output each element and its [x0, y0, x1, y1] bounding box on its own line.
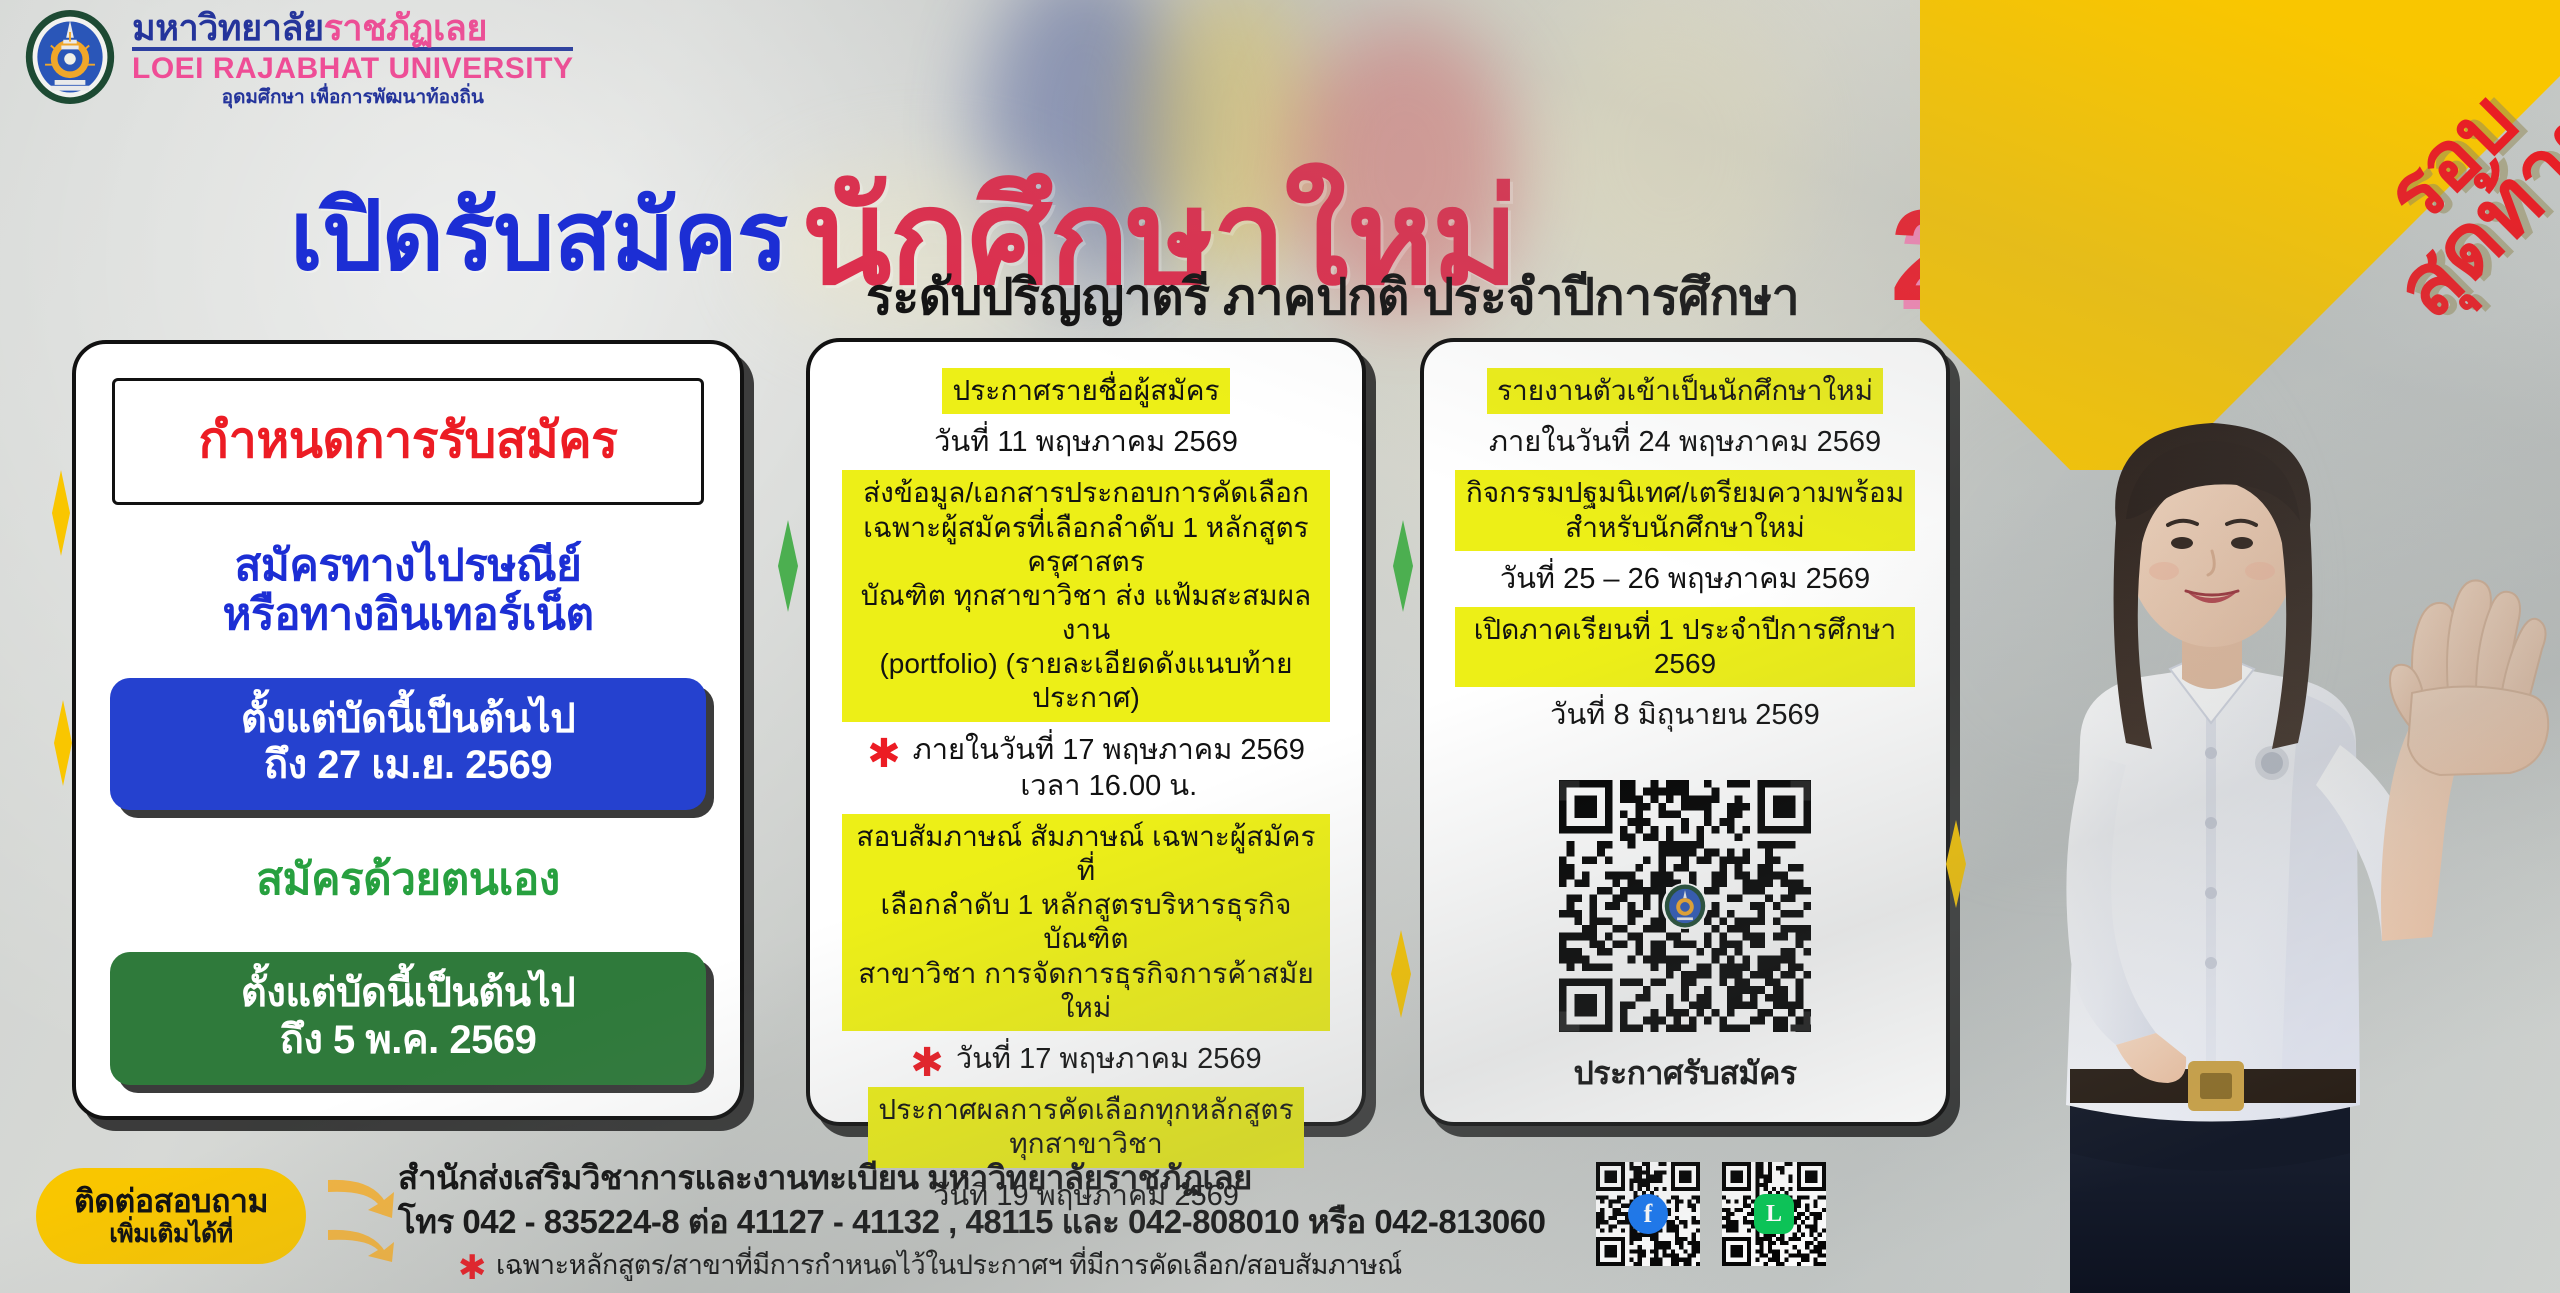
- schedule-row-line: (portfolio) (รายละเอียดดังแนบท้ายประกาศ): [852, 647, 1321, 715]
- university-crest-icon: [22, 9, 118, 105]
- corner-ribbon-line2: สุดท้าย: [2384, 91, 2560, 332]
- card-enrollment-schedule: รายงานตัวเข้าเป็นนักศึกษาใหม่ภายในวันที่…: [1420, 338, 1950, 1126]
- pill-blue-line2: ถึง 27 เม.ย. 2569: [110, 742, 706, 788]
- student-photo: [1920, 393, 2560, 1293]
- left-card-title-box: กำหนดการรับสมัคร: [112, 378, 704, 505]
- schedule-date-row: วันที่ 8 มิถุนายน 2569: [1440, 687, 1930, 743]
- university-motto: อุดมศึกษา เพื่อการพัฒนาท้องถิ่น: [132, 88, 573, 107]
- contact-badge-line2: เพิ่มเติมได้ที่: [109, 1221, 233, 1247]
- schedule-date-row: วันที่ 11 พฤษภาคม 2569: [826, 414, 1346, 470]
- footer-note-row: ✱ เฉพาะหลักสูตร/สาขาที่มีการกำหนดไว้ในปร…: [398, 1249, 1546, 1282]
- academic-year-number: 2569: [1890, 180, 2171, 330]
- schedule-row-line: ภายในวันที่ 17 พฤษภาคม 2569: [913, 732, 1305, 768]
- university-name-th: มหาวิทยาลัยราชภัฏเลย: [132, 10, 573, 51]
- footer-contact-info: สำนักส่งเสริมวิชาการและงานทะเบียน มหาวิท…: [398, 1158, 1546, 1281]
- admission-poster: มหาวิทยาลัยราชภัฏเลย LOEI RAJABHAT UNIVE…: [0, 0, 2560, 1293]
- headline-subtitle: ระดับปริญญาตรี ภาคปกติ ประจำปีการศึกษา: [866, 258, 1799, 337]
- left-card-self-apply-label: สมัครด้วยตนเอง: [76, 844, 740, 914]
- footer-phone: โทร 042 - 835224-8 ต่อ 41127 - 41132 , 4…: [398, 1202, 1546, 1242]
- asterisk-icon: ✱: [910, 1045, 944, 1081]
- schedule-highlight-row: สอบสัมภาษณ์ สัมภาษณ์ เฉพาะผู้สมัครที่เลื…: [842, 814, 1331, 1031]
- schedule-row-line: วันที่ 17 พฤษภาคม 2569: [956, 1041, 1262, 1077]
- schedule-row-line: สอบสัมภาษณ์ สัมภาษณ์ เฉพาะผู้สมัครที่: [852, 820, 1321, 888]
- schedule-row-line: วันที่ 8 มิถุนายน 2569: [1448, 697, 1922, 733]
- left-card-subtitle-line2: หรือทางอินเทอร์เน็ต: [76, 590, 740, 639]
- schedule-row-line: ประกาศผลการคัดเลือกทุกหลักสูตร: [878, 1093, 1293, 1127]
- left-card-subtitle: สมัครทางไปรษณีย์ หรือทางอินเทอร์เน็ต: [76, 541, 740, 640]
- schedule-deadline-text: วันที่ 17 พฤษภาคม 2569: [956, 1041, 1262, 1077]
- social-qr-codes: f L: [1596, 1162, 1826, 1266]
- schedule-row-line: ส่งข้อมูล/เอกสารประกอบการคัดเลือก: [852, 476, 1321, 510]
- schedule-row-line: เลือกลำดับ 1 หลักสูตรบริหารธุรกิจบัณฑิต: [852, 888, 1321, 956]
- contact-badge: ติดต่อสอบถาม เพิ่มเติมได้ที่: [36, 1168, 306, 1264]
- corner-ribbon-line1: รอบ: [2333, 40, 2560, 278]
- left-card-subtitle-line1: สมัครทางไปรษณีย์: [76, 541, 740, 590]
- schedule-row-line: เฉพาะผู้สมัครที่เลือกลำดับ 1 หลักสูตรครุ…: [852, 511, 1321, 579]
- schedule-row-line: บัณฑิต ทุกสาขาวิชา ส่ง แฟ้มสะสมผลงาน: [852, 579, 1321, 647]
- schedule-row-line: กิจกรรมปฐมนิเทศ/เตรียมความพร้อม: [1465, 476, 1906, 510]
- university-name-th-part2: ราชภัฏเลย: [324, 7, 487, 48]
- facebook-qr[interactable]: f: [1596, 1162, 1700, 1266]
- pill-walkin-period: ตั้งแต่บัดนี้เป็นต้นไป ถึง 5 พ.ค. 2569: [110, 952, 706, 1085]
- facebook-icon: f: [1628, 1194, 1668, 1234]
- corner-ribbon-text: รอบ สุดท้าย: [2333, 40, 2560, 332]
- schedule-row-line: ภายในวันที่ 24 พฤษภาคม 2569: [1448, 424, 1922, 460]
- line-icon: L: [1754, 1194, 1794, 1234]
- pill-green-line1: ตั้งแต่บัดนี้เป็นต้นไป: [110, 970, 706, 1016]
- schedule-row-line: สาขาวิชา การจัดการธุรกิจการค้าสมัยใหม่: [852, 957, 1321, 1025]
- announcement-qr-code[interactable]: [1559, 780, 1811, 1032]
- schedule-row-line: สำหรับนักศึกษาใหม่: [1465, 511, 1906, 545]
- schedule-date-row: วันที่ 25 – 26 พฤษภาคม 2569: [1440, 551, 1930, 607]
- qr-center-crest-icon: [1662, 883, 1708, 929]
- left-card-title: กำหนดการรับสมัคร: [115, 401, 701, 480]
- pill-online-postal-period: ตั้งแต่บัดนี้เป็นต้นไป ถึง 27 เม.ย. 2569: [110, 678, 706, 811]
- right-card-rows: รายงานตัวเข้าเป็นนักศึกษาใหม่ภายในวันที่…: [1424, 342, 1946, 754]
- pill-green-line2: ถึง 5 พ.ค. 2569: [110, 1017, 706, 1063]
- schedule-date-row: ภายในวันที่ 24 พฤษภาคม 2569: [1440, 414, 1930, 470]
- schedule-row-line: ประกาศรายชื่อผู้สมัคร: [952, 374, 1219, 408]
- mid-card-rows: ประกาศรายชื่อผู้สมัครวันที่ 11 พฤษภาคม 2…: [810, 342, 1362, 1234]
- schedule-row-line: เวลา 16.00 น.: [913, 768, 1305, 804]
- schedule-row-line: วันที่ 25 – 26 พฤษภาคม 2569: [1448, 561, 1922, 597]
- schedule-highlight-row: กิจกรรมปฐมนิเทศ/เตรียมความพร้อมสำหรับนัก…: [1455, 470, 1916, 550]
- headline-blue-text: เปิดรับสมัคร: [290, 183, 787, 290]
- schedule-row-line: ทุกสาขาวิชา: [878, 1127, 1293, 1161]
- university-branding: มหาวิทยาลัยราชภัฏเลย LOEI RAJABHAT UNIVE…: [22, 6, 573, 107]
- card-application-schedule: กำหนดการรับสมัคร สมัครทางไปรษณีย์ หรือทา…: [72, 340, 744, 1120]
- schedule-deadline-row: ✱วันที่ 17 พฤษภาคม 2569: [826, 1031, 1346, 1087]
- schedule-highlight-row: รายงานตัวเข้าเป็นนักศึกษาใหม่: [1487, 368, 1883, 414]
- contact-badge-line1: ติดต่อสอบถาม: [74, 1185, 268, 1219]
- schedule-highlight-row: ส่งข้อมูล/เอกสารประกอบการคัดเลือกเฉพาะผู…: [842, 470, 1331, 721]
- asterisk-icon: ✱: [458, 1253, 486, 1284]
- card-selection-schedule: ประกาศรายชื่อผู้สมัครวันที่ 11 พฤษภาคม 2…: [806, 338, 1366, 1126]
- footer-note: เฉพาะหลักสูตร/สาขาที่มีการกำหนดไว้ในประก…: [496, 1249, 1402, 1282]
- schedule-row-line: เปิดภาคเรียนที่ 1 ประจำปีการศึกษา 2569: [1465, 613, 1906, 681]
- schedule-highlight-row: ประกาศผลการคัดเลือกทุกหลักสูตรทุกสาขาวิช…: [868, 1087, 1303, 1167]
- university-name-en: LOEI RAJABHAT UNIVERSITY: [132, 54, 573, 84]
- schedule-row-line: รายงานตัวเข้าเป็นนักศึกษาใหม่: [1497, 374, 1873, 408]
- pill-blue-line1: ตั้งแต่บัดนี้เป็นต้นไป: [110, 696, 706, 742]
- footer-office: สำนักส่งเสริมวิชาการและงานทะเบียน มหาวิท…: [398, 1158, 1546, 1198]
- announcement-qr-block[interactable]: ประกาศรับสมัคร: [1424, 780, 1946, 1099]
- university-name-th-part1: มหาวิทยาลัย: [132, 7, 324, 48]
- schedule-deadline-text: ภายในวันที่ 17 พฤษภาคม 2569เวลา 16.00 น.: [913, 732, 1305, 805]
- qr-caption: ประกาศรับสมัคร: [1424, 1048, 1946, 1099]
- schedule-highlight-row: ประกาศรายชื่อผู้สมัคร: [942, 368, 1229, 414]
- schedule-highlight-row: เปิดภาคเรียนที่ 1 ประจำปีการศึกษา 2569: [1455, 607, 1916, 687]
- schedule-row-line: วันที่ 11 พฤษภาคม 2569: [834, 424, 1338, 460]
- asterisk-icon: ✱: [867, 736, 901, 772]
- line-qr[interactable]: L: [1722, 1162, 1826, 1266]
- schedule-deadline-row: ✱ภายในวันที่ 17 พฤษภาคม 2569เวลา 16.00 น…: [826, 722, 1346, 815]
- bg-blob: [1540, 0, 1800, 300]
